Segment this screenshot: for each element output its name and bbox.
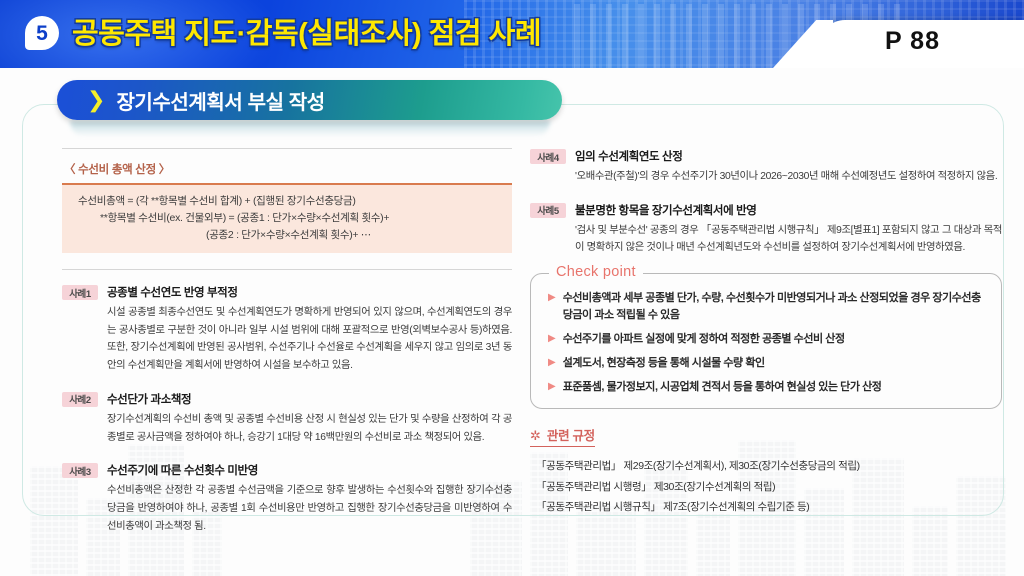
top-divider (62, 148, 512, 149)
section-title-banner: ❯ 장기수선계획서 부실 작성 (57, 80, 562, 120)
related-regulations-label: 관련 규정 (547, 425, 595, 444)
left-column: 〈 수선비 총액 산정 〉 수선비총액 = (각 **항목별 수선비 합계) +… (62, 148, 512, 551)
case-text: 수선비총액은 산정한 각 공종별 수선금액을 기준으로 향후 발생하는 수선횟수… (107, 482, 512, 535)
case-item: 사례5 불분명한 항목을 장기수선계획서에 반영 '검사 및 부분수선' 공종의… (530, 202, 1002, 257)
case-body: 불분명한 항목을 장기수선계획서에 반영 '검사 및 부분수선' 공종의 경우 … (575, 202, 1002, 257)
page-number-tag: P 88 (819, 20, 1024, 68)
case-title: 불분명한 항목을 장기수선계획서에 반영 (575, 202, 1002, 218)
formula-line: (공종2 : 단가×수량×수선계획 횟수)+ ⋯ (78, 227, 502, 244)
check-point-box: Check point ▶ 수선비총액과 세부 공종별 단가, 수량, 수선횟수… (530, 273, 1002, 409)
formula-box: 수선비총액 = (각 **항목별 수선비 합계) + (집행된 장기수선충당금)… (62, 183, 512, 253)
formula-line: 수선비총액 = (각 **항목별 수선비 합계) + (집행된 장기수선충당금) (78, 193, 502, 210)
case-title: 공종별 수선연도 반영 부적정 (107, 284, 512, 300)
formula-heading: 〈 수선비 총액 산정 〉 (64, 161, 512, 177)
regulation-line: 「공동주택관리법 시행령」 제30조(장기수선계획의 적립) (530, 477, 1002, 497)
case-body: 수선단가 과소책정 장기수선계획의 수선비 총액 및 공종별 수선비용 산정 시… (107, 391, 512, 446)
check-point-legend: Check point (549, 264, 643, 280)
arrow-right-icon: ▶ (548, 355, 556, 372)
formula-bottom-divider (62, 269, 512, 270)
section-title-label: 장기수선계획서 부실 작성 (116, 86, 324, 115)
formula-line: **항목별 수선비(ex. 건물외부) = (공종1 : 단가×수량×수선계획 … (78, 210, 502, 227)
case-text: 장기수선계획의 수선비 총액 및 공종별 수선비용 산정 시 현실성 있는 단가… (107, 411, 512, 446)
arrow-right-icon: ▶ (548, 379, 556, 396)
case-title: 임의 수선계획연도 산정 (575, 148, 1002, 164)
case-text: '오배수관(주철)'의 경우 수선주기가 30년이나 2026~2030년 매해… (575, 168, 1002, 186)
case-text: '검사 및 부분수선' 공종의 경우 「공동주택관리법 시행규칙」 제9조[별표… (575, 222, 1002, 257)
asterisk-icon: ✲ (530, 429, 541, 442)
case-text: 시설 공종별 최종수선연도 및 수선계획연도가 명확하게 반영되어 있지 않으며… (107, 304, 512, 375)
case-item: 사례2 수선단가 과소책정 장기수선계획의 수선비 총액 및 공종별 수선비용 … (62, 391, 512, 446)
case-item: 사례3 수선주기에 따른 수선횟수 미반영 수선비총액은 산정한 각 공종별 수… (62, 462, 512, 535)
check-point-item: ▶ 설계도서, 현장측정 등을 통해 시설물 수량 확인 (545, 355, 987, 372)
check-point-text: 수선비총액과 세부 공종별 단가, 수량, 수선횟수가 미반영되거나 과소 산정… (563, 290, 987, 324)
check-point-item: ▶ 수선비총액과 세부 공종별 단가, 수량, 수선횟수가 미반영되거나 과소 … (545, 290, 987, 324)
case-badge: 사례2 (62, 392, 98, 407)
page-number-label: P 88 (885, 27, 940, 56)
case-title: 수선단가 과소책정 (107, 391, 512, 407)
case-title: 수선주기에 따른 수선횟수 미반영 (107, 462, 512, 478)
related-regulations-section: ✲ 관련 규정 「공동주택관리법」 제29조(장기수선계획서), 제30조(장기… (530, 425, 1002, 516)
case-badge: 사례4 (530, 149, 566, 164)
case-body: 임의 수선계획연도 산정 '오배수관(주철)'의 경우 수선주기가 30년이나 … (575, 148, 1002, 186)
check-point-text: 표준품셈, 물가정보지, 시공업체 견적서 등을 통하여 현실성 있는 단가 산… (563, 379, 882, 396)
case-badge: 사례3 (62, 463, 98, 478)
check-point-item: ▶ 수선주기를 아파트 실정에 맞게 정하여 적정한 공종별 수선비 산정 (545, 331, 987, 348)
case-item: 사례1 공종별 수선연도 반영 부적정 시설 공종별 최종수선연도 및 수선계획… (62, 284, 512, 375)
chevron-right-icon: ❯ (87, 89, 105, 111)
case-badge: 사례1 (62, 285, 98, 300)
case-item: 사례4 임의 수선계획연도 산정 '오배수관(주철)'의 경우 수선주기가 30… (530, 148, 1002, 186)
regulation-line: 「공동주택관리법」 제29조(장기수선계획서), 제30조(장기수선충당금의 적… (530, 456, 1002, 476)
right-column: 사례4 임의 수선계획연도 산정 '오배수관(주철)'의 경우 수선주기가 30… (530, 148, 1002, 517)
banner-reflection (70, 121, 550, 137)
arrow-right-icon: ▶ (548, 290, 556, 324)
related-regulations-heading: ✲ 관련 규정 (530, 425, 595, 447)
check-point-text: 설계도서, 현장측정 등을 통해 시설물 수량 확인 (563, 355, 765, 372)
slide-root: 5 공동주택 지도·감독(실태조사) 점검 사례 P 88 ❯ 장기수선계획서 … (0, 0, 1024, 576)
page-title: 공동주택 지도·감독(실태조사) 점검 사례 (72, 10, 541, 52)
case-badge: 사례5 (530, 203, 566, 218)
check-point-item: ▶ 표준품셈, 물가정보지, 시공업체 견적서 등을 통하여 현실성 있는 단가… (545, 379, 987, 396)
case-body: 수선주기에 따른 수선횟수 미반영 수선비총액은 산정한 각 공종별 수선금액을… (107, 462, 512, 535)
regulation-line: 「공동주택관리법 시행규칙」 제7조(장기수선계획의 수립기준 등) (530, 497, 1002, 517)
slide-header: 5 공동주택 지도·감독(실태조사) 점검 사례 P 88 (0, 0, 1024, 68)
arrow-right-icon: ▶ (548, 331, 556, 348)
case-body: 공종별 수선연도 반영 부적정 시설 공종별 최종수선연도 및 수선계획연도가 … (107, 284, 512, 375)
check-point-text: 수선주기를 아파트 실정에 맞게 정하여 적정한 공종별 수선비 산정 (563, 331, 845, 348)
section-number-badge: 5 (25, 16, 59, 50)
